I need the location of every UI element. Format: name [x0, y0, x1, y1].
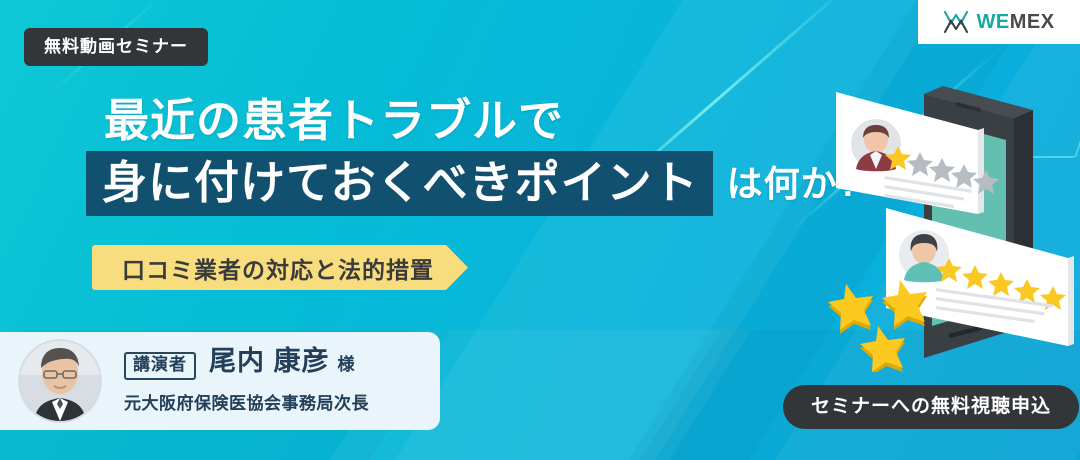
headline-highlight-text: 身に付けておくべきポイント — [86, 151, 713, 216]
headline: 最近の患者トラブルで 身に付けておくべきポイント は何か? — [0, 98, 900, 216]
smartphone-review-illustration — [828, 72, 1080, 372]
subtitle-ribbon-label: 口コミ業者の対応と法的措置 — [122, 251, 434, 285]
subtitle-ribbon: 口コミ業者の対応と法的措置 — [92, 245, 468, 290]
wemex-x-mark — [943, 10, 969, 34]
speaker-name: 尾内 康彦 — [209, 348, 330, 375]
speaker-title: 元大阪府保険医協会事務局次長 — [124, 389, 369, 414]
logo-text-we: WE — [976, 11, 1009, 33]
headline-line1-text: 最近の患者トラブルで — [104, 98, 564, 143]
free-video-seminar-badge: 無料動画セミナー — [24, 28, 208, 66]
logo-text-mex: MEX — [1010, 11, 1055, 33]
wemex-logo-text: WEMEX — [976, 12, 1054, 32]
headline-line-2: 身に付けておくべきポイント は何か? — [0, 151, 900, 216]
seminar-banner: WEMEX 無料動画セミナー 最近の患者トラブルで 身に付けておくべきポイント … — [0, 0, 1080, 460]
speaker-role-label: 講演者 — [124, 352, 196, 380]
speaker-honorific: 様 — [338, 356, 355, 373]
speaker-info: 講演者 尾内 康彦 様 元大阪府保険医協会事務局次長 — [124, 348, 369, 414]
speaker-portrait — [20, 341, 100, 421]
floating-stars — [828, 280, 927, 372]
apply-free-viewing-button[interactable]: セミナーへの無料視聴申込 — [783, 385, 1079, 429]
wemex-logo: WEMEX — [918, 0, 1080, 44]
speaker-name-row: 講演者 尾内 康彦 様 — [124, 348, 369, 380]
headline-line-1: 最近の患者トラブルで — [0, 98, 900, 143]
speaker-card: 講演者 尾内 康彦 様 元大阪府保険医協会事務局次長 — [0, 332, 440, 430]
avatar — [18, 339, 102, 423]
